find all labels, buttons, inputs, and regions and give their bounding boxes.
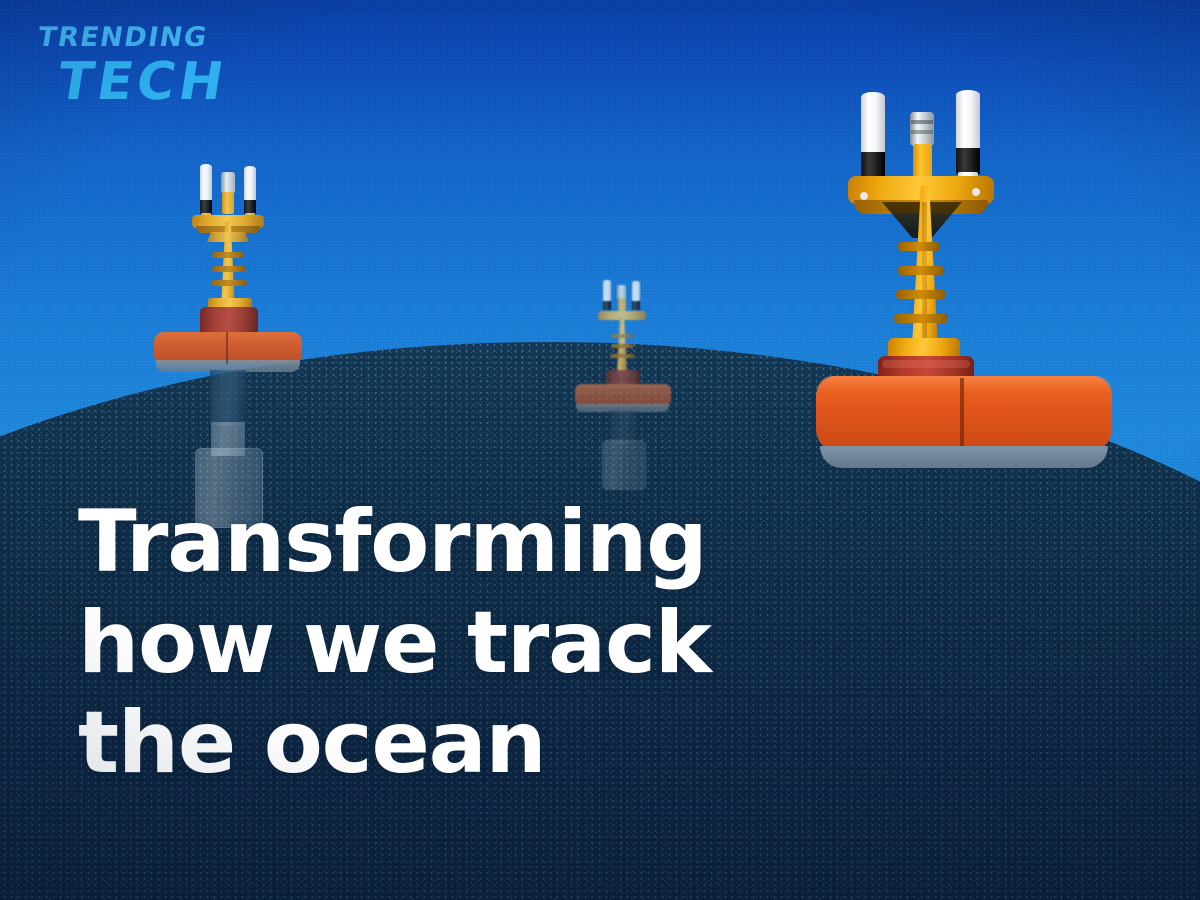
buoy-mid [580,276,664,476]
antenna-left-band [603,301,611,310]
tower-rib-3 [211,280,247,286]
flotation-disc [575,384,671,406]
brand-line-2: TECH [54,56,231,108]
tower-rib-2 [611,344,634,348]
headline-line-3: the ocean [78,693,838,794]
antenna-left-band [200,200,212,214]
brand-line-1: TRENDING [36,24,229,51]
center-sensor-base [222,192,234,214]
hero-banner: TRENDING TECH Transforming how we track … [0,0,1200,900]
center-sensor-icon [221,172,235,194]
tower-rib-4 [894,314,948,323]
antenna-right-band [632,301,640,310]
page-title: Transforming how we track the ocean [78,492,838,794]
sensor-cage [602,440,646,490]
disc-seam [960,378,964,454]
tower-rib-2 [898,266,944,275]
brand-logo[interactable]: TRENDING TECH [38,24,227,108]
tower-rib-1 [898,242,940,251]
keel-upper [210,370,246,426]
center-sensor-base [618,298,626,312]
flotation-disc-underside [820,446,1108,468]
antenna-left-icon [200,164,212,204]
center-sensor-ring-1 [911,120,933,124]
crossarm-bolt-left [860,192,868,200]
center-sensor-base [913,144,932,178]
headline-line-1: Transforming [78,492,838,593]
tower-rib-3 [610,354,634,358]
buoy-left [160,160,290,450]
tower-rib-1 [212,252,244,258]
tower-rib-1 [611,334,633,338]
flotation-disc-highlight [816,376,1112,392]
tower-rib-3 [896,290,946,299]
disc-seam [226,332,228,364]
buoy-main [820,90,1120,420]
headline-line-2: how we track [78,593,838,694]
antenna-left-icon [861,92,885,158]
antenna-right-icon [956,90,980,152]
antenna-right-band [956,148,980,174]
antenna-left-band [861,152,885,178]
crossarm-bolt-right [972,188,980,196]
antenna-right-band [244,200,256,214]
keel-upper [610,410,636,444]
tower-brace-top [207,232,249,242]
center-sensor-ring-2 [911,130,933,134]
tower-rib-2 [212,266,246,272]
center-sensor-icon [910,112,934,146]
housing-highlight [882,360,970,368]
antenna-right-icon [244,166,256,204]
